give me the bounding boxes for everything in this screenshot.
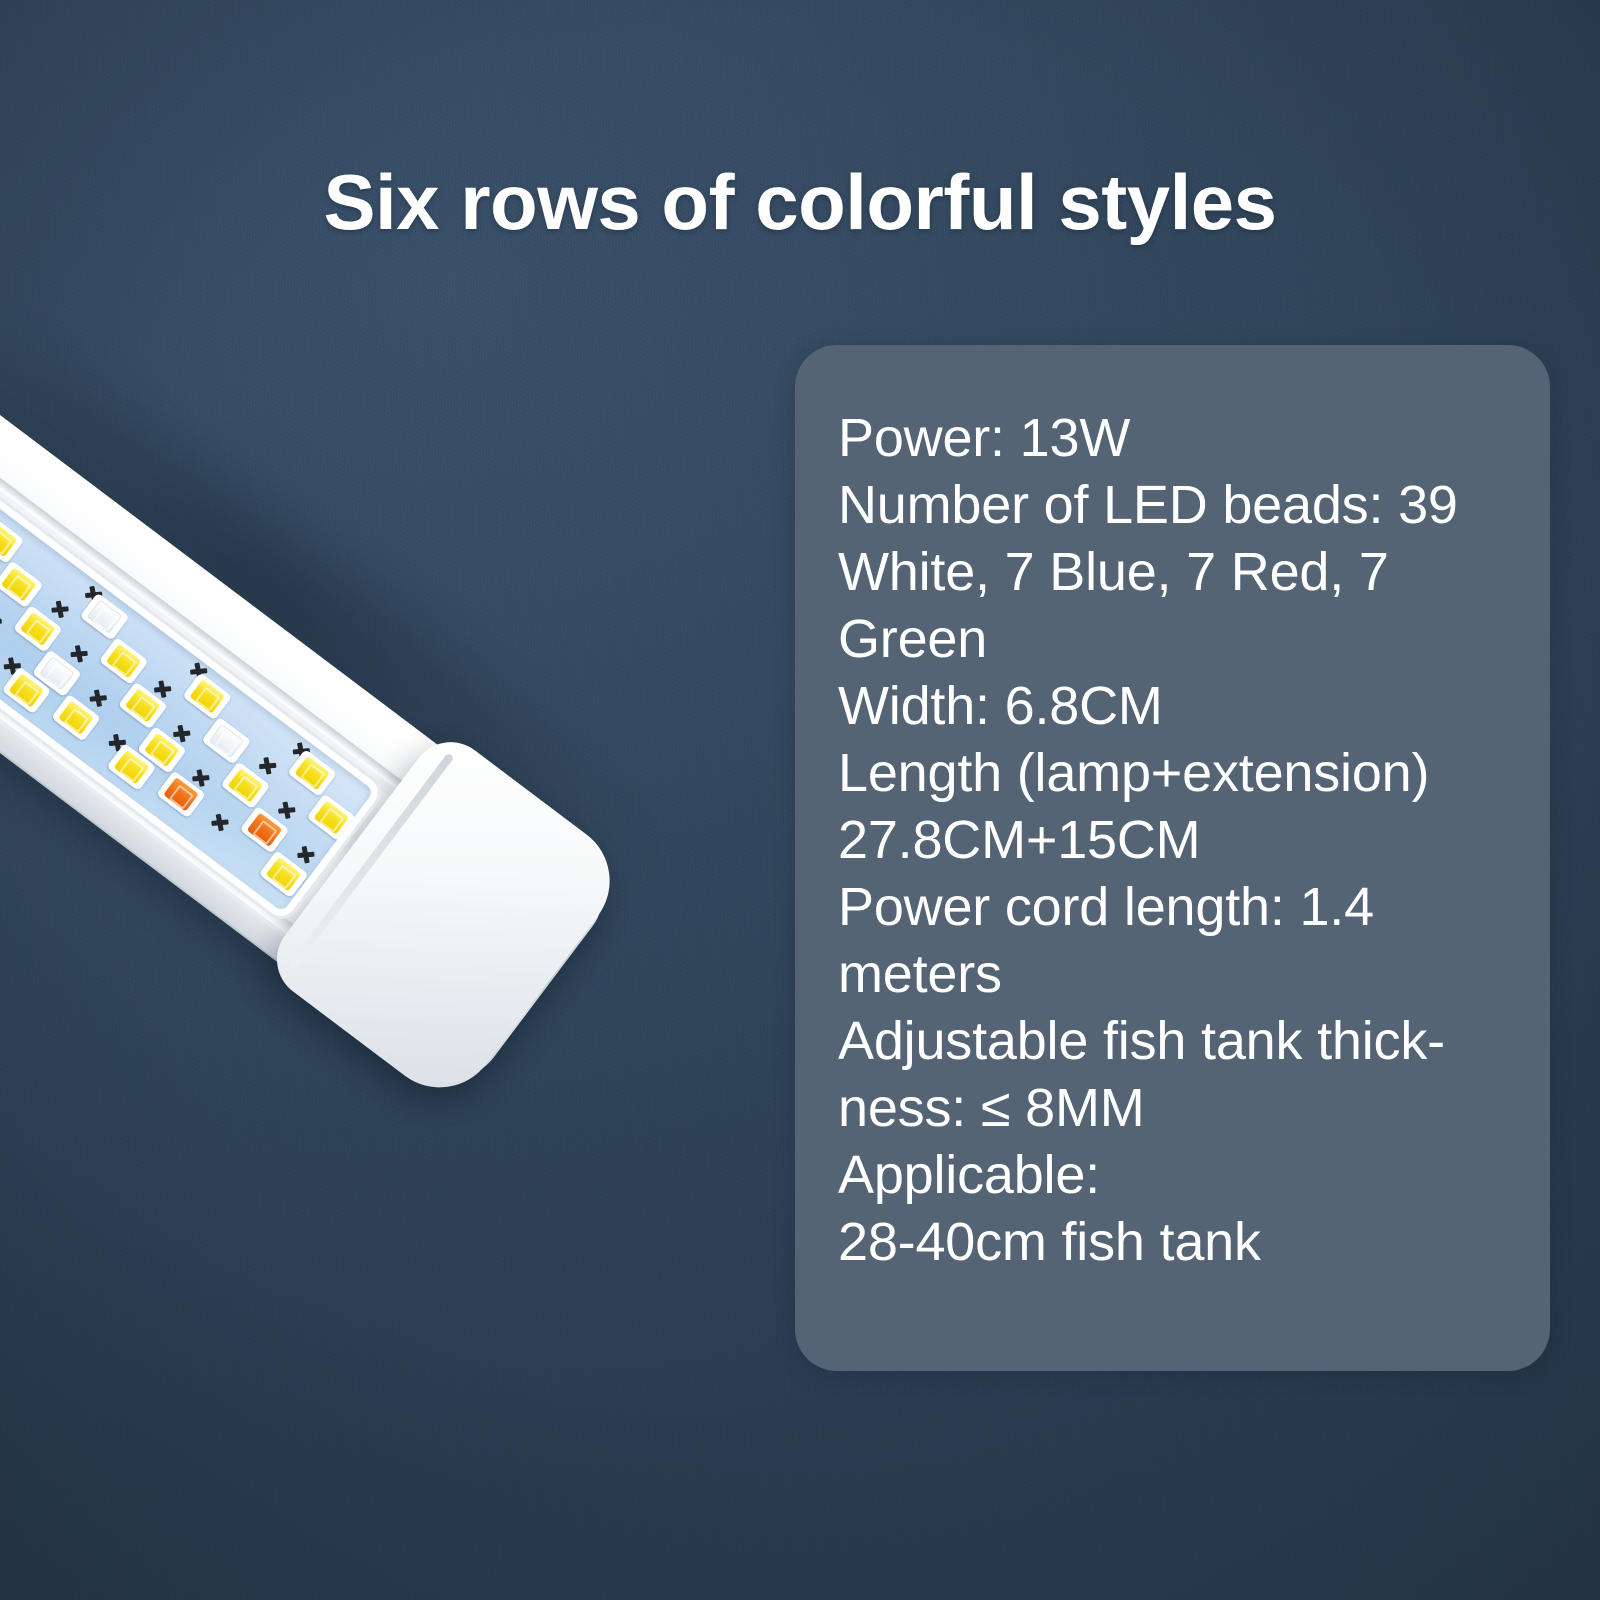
led-bead-phosphor: [112, 651, 137, 676]
led-bead-phosphor: [119, 757, 144, 782]
led-bead-phosphor: [319, 808, 344, 833]
led-bead-phosphor: [233, 776, 258, 801]
spec-line: Width: 6.8CM: [838, 673, 1534, 740]
led-bead-phosphor: [131, 696, 156, 721]
led-bead-phosphor: [0, 530, 13, 555]
spec-line: White, 7 Blue, 7 Red, 7: [838, 539, 1534, 606]
spec-line: Power cord length: 1.4: [838, 874, 1534, 941]
led-bead-phosphor: [150, 740, 175, 765]
led-bead-phosphor: [6, 575, 31, 600]
led-bead-phosphor: [214, 731, 239, 756]
spec-line: ness: ≤ 8MM: [838, 1075, 1534, 1142]
page-title: Six rows of colorful styles: [0, 160, 1600, 246]
led-bead-phosphor: [300, 763, 325, 788]
spec-line: Power: 13W: [838, 405, 1534, 472]
led-bead-phosphor: [271, 864, 296, 889]
led-bead-phosphor: [92, 607, 117, 632]
spec-line: 27.8CM+15CM: [838, 807, 1534, 874]
led-bead-phosphor: [252, 820, 277, 845]
spec-line: Number of LED beads: 39: [838, 472, 1534, 539]
spec-line: Length (lamp+extension): [838, 740, 1534, 807]
led-bead-phosphor: [64, 708, 89, 733]
spec-line: Applicable:: [838, 1142, 1534, 1209]
led-bead-phosphor: [26, 619, 51, 644]
product-image-canvas: Six rows of colorful styles Power: 13WNu…: [0, 0, 1600, 1600]
led-bead-phosphor: [169, 785, 194, 810]
led-bead-phosphor: [195, 687, 220, 712]
led-bead-phosphor: [14, 681, 39, 706]
specification-panel: Power: 13WNumber of LED beads: 39White, …: [795, 345, 1550, 1371]
spec-line: Adjustable fish tank thick-: [838, 1008, 1534, 1075]
spec-line: Green: [838, 606, 1534, 673]
spec-line: meters: [838, 941, 1534, 1008]
led-bead-phosphor: [45, 663, 70, 688]
spec-line: 28-40cm fish tank: [838, 1209, 1534, 1276]
specification-list: Power: 13WNumber of LED beads: 39White, …: [838, 405, 1534, 1276]
